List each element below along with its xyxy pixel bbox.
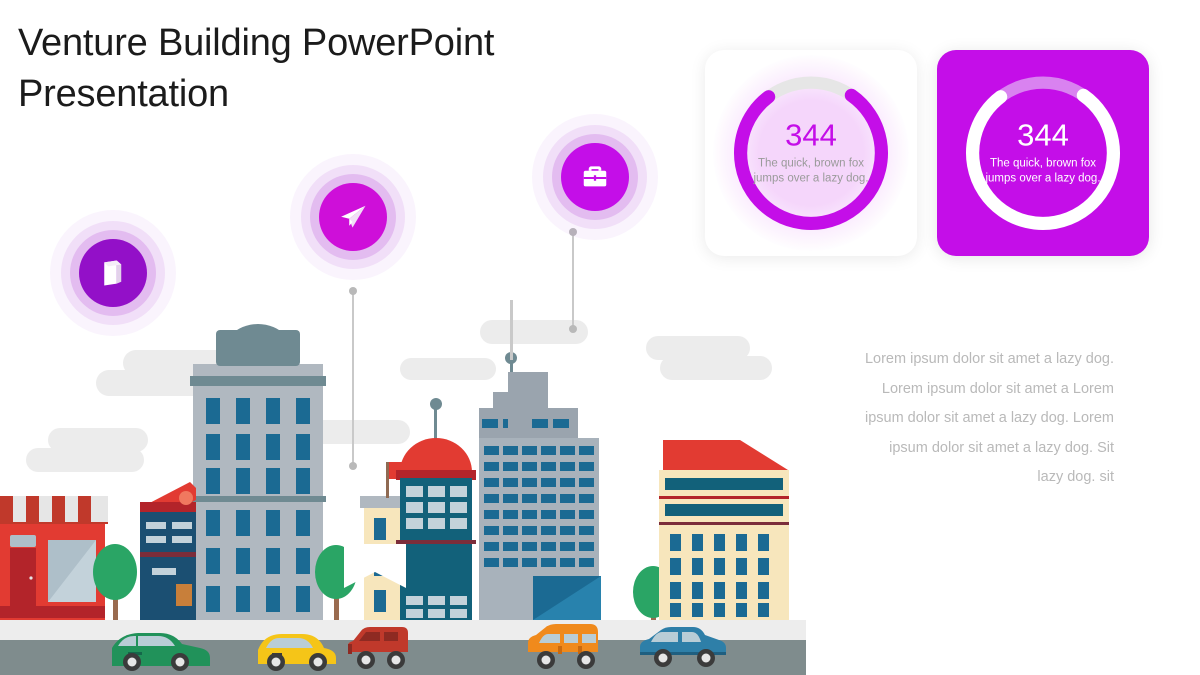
book-icon (98, 258, 128, 288)
cream-red-roof-building (659, 440, 789, 620)
gray-domed-building (190, 324, 326, 620)
connector-line-2 (572, 232, 574, 329)
page-title: Venture Building PowerPoint Presentation (18, 18, 638, 119)
donut-progress-ring (723, 65, 899, 241)
city-skyline-illustration (0, 300, 810, 675)
kpi-card-dark[interactable]: 344 The quick, brown fox jumps over a la… (937, 50, 1149, 256)
red-awning-shop (0, 496, 108, 620)
body-paragraph: Lorem ipsum dolor sit amet a lazy dog. L… (862, 345, 1114, 493)
marker-briefcase[interactable] (530, 112, 660, 242)
navy-red-townhouse (140, 482, 196, 620)
paper-plane-icon (338, 202, 368, 232)
marker-book[interactable] (48, 208, 178, 338)
connector-line-1 (352, 291, 354, 466)
marker-disc (561, 143, 629, 211)
marker-send[interactable] (288, 152, 418, 282)
cloud-group (26, 320, 772, 472)
gray-skyscraper (479, 300, 601, 620)
slide-canvas: Venture Building PowerPoint Presentation… (0, 0, 1200, 675)
kpi-card-light[interactable]: 344 The quick, brown fox jumps over a la… (705, 50, 917, 256)
marker-disc (79, 239, 147, 307)
briefcase-icon (580, 162, 610, 192)
marker-disc (319, 183, 387, 251)
donut-progress-ring (955, 65, 1131, 241)
